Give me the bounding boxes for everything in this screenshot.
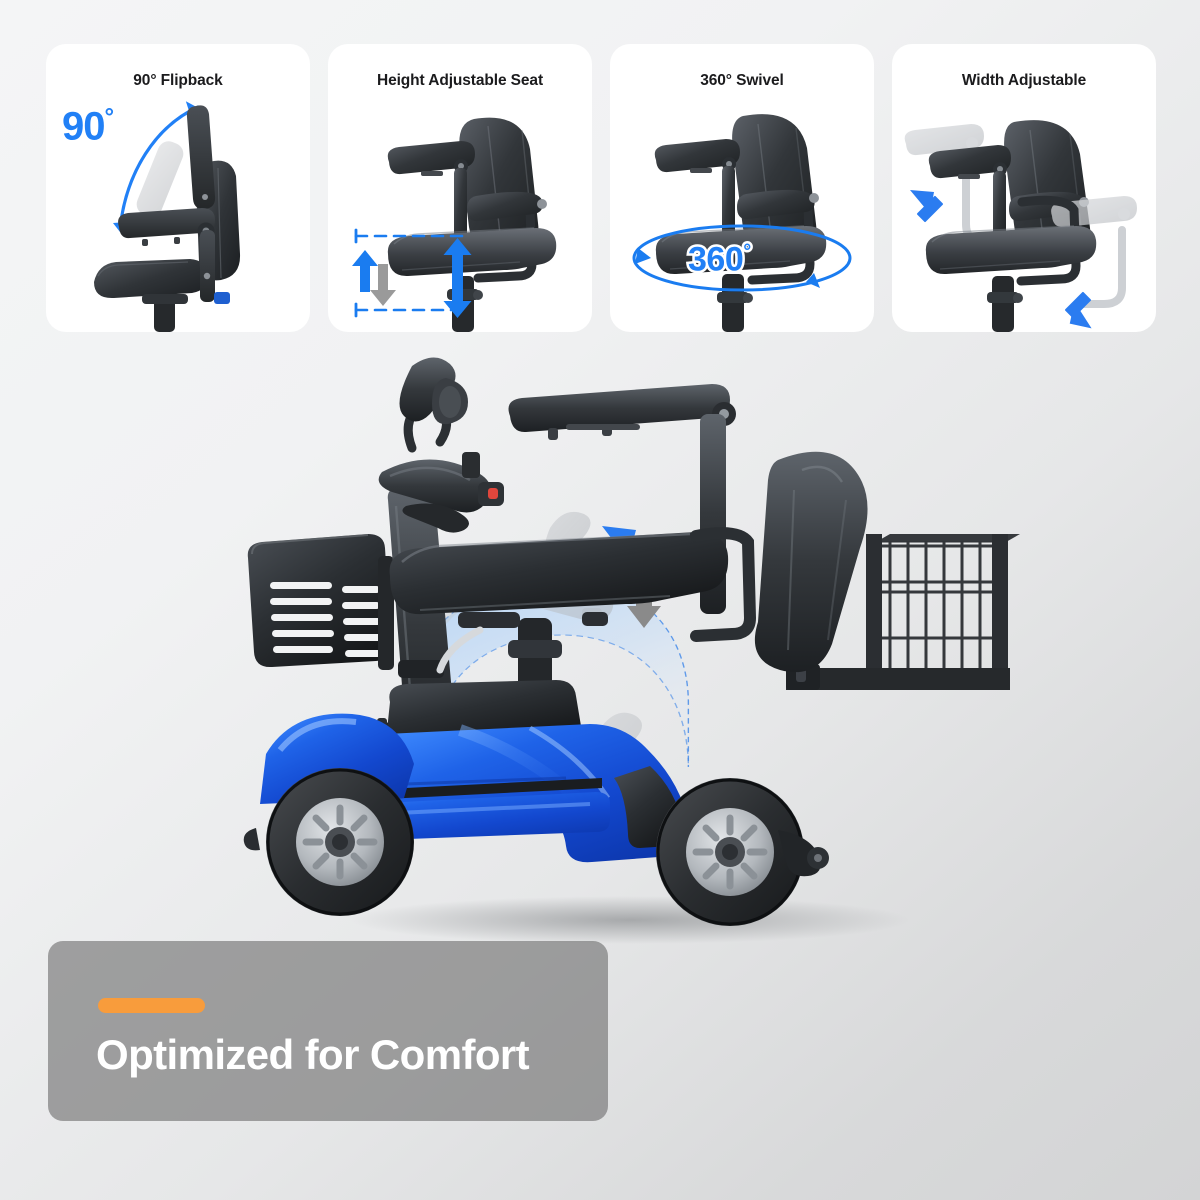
feature-card-width-adjustable[interactable]: Width Adjustable — [892, 44, 1156, 332]
feature-card-flipback[interactable]: 90° Flipback 90° — [46, 44, 310, 332]
feature-card-title: Width Adjustable — [892, 72, 1156, 90]
callout-360-value: 360 — [688, 240, 743, 278]
feature-card-height-adjustable[interactable]: Height Adjustable Seat — [328, 44, 592, 332]
product-feature-page: 90° Flipback 90° — [0, 0, 1200, 1200]
comfort-banner: Optimized for Comfort — [48, 941, 608, 1121]
mobility-scooter-hero-image — [230, 330, 1030, 960]
degree-symbol: ° — [743, 241, 751, 263]
feature-card-title: Height Adjustable Seat — [328, 72, 592, 90]
degree-symbol: ° — [105, 104, 114, 131]
accent-bar — [98, 998, 205, 1013]
banner-headline: Optimized for Comfort — [96, 1031, 529, 1079]
callout-360-degrees: 360° — [688, 242, 751, 276]
callout-90-value: 90 — [62, 104, 105, 148]
feature-card-title: 360° Swivel — [610, 72, 874, 90]
feature-card-title: 90° Flipback — [46, 72, 310, 90]
feature-card-strip: 90° Flipback 90° — [46, 44, 1154, 332]
callout-90-degrees: 90° — [62, 106, 113, 146]
feature-card-swivel[interactable]: 360° Swivel 360° — [610, 44, 874, 332]
